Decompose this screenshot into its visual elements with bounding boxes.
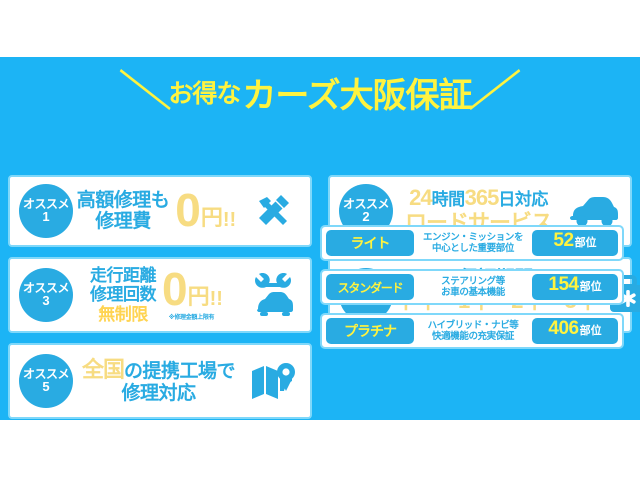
plan-desc-platinum-line-2: 快適機能の充実保証 xyxy=(417,331,529,342)
badge-number: 3 xyxy=(42,294,49,308)
card-1-text: 高額修理も 修理費 xyxy=(77,190,170,233)
recommend-badge-3: オススメ 3 xyxy=(19,268,73,322)
plan-list: ライト エンジン・ミッションを 中心とした重要部位 52 部位 スタンダード ス… xyxy=(320,225,624,349)
card-2-hours-unit: 時間 xyxy=(432,190,465,209)
badge-number: 1 xyxy=(42,210,49,224)
feature-card-5[interactable]: オススメ 5 全国の提携工場で 修理対応 xyxy=(8,343,312,419)
plan-name-platinum: プラチナ xyxy=(326,318,414,344)
card-5-text: 全国の提携工場で 修理対応 xyxy=(82,358,235,404)
plan-count-light-unit: 部位 xyxy=(575,234,597,250)
card-3-text: 走行距離 修理回数 無制限 xyxy=(90,266,156,323)
plan-desc-standard: ステアリング等 お車の基本機能 xyxy=(414,276,532,298)
card-1-price-yen: 円 xyxy=(201,200,223,232)
plan-row-standard[interactable]: スタンダード ステアリング等 お車の基本機能 154 部位 xyxy=(320,269,624,305)
plan-count-light: 52 部位 xyxy=(532,230,618,256)
plan-desc-light-line-1: エンジン・ミッションを xyxy=(417,232,529,243)
card-5-line-1: 全国の提携工場で xyxy=(82,358,235,383)
plan-desc-standard-line-2: お車の基本機能 xyxy=(417,287,529,298)
recommend-badge-5: オススメ 5 xyxy=(19,354,73,408)
card-3-body: 走行距離 修理回数 無制限 0 円 !! ※修理金額上限有 xyxy=(73,259,244,331)
plan-count-standard: 154 部位 xyxy=(532,274,618,300)
plan-desc-light-line-2: 中心とした重要部位 xyxy=(417,243,529,254)
plan-count-platinum-number: 406 xyxy=(548,318,578,340)
card-1-price: 0 円 !! xyxy=(175,190,236,231)
card-2-days-unit: 日対応 xyxy=(498,190,548,209)
plan-count-platinum: 406 部位 xyxy=(532,318,618,344)
car-side-icon xyxy=(564,194,622,228)
headline-main: カーズ大阪保証 xyxy=(242,68,471,117)
card-5-line-2: 修理対応 xyxy=(121,383,195,404)
hammer-pick-icon xyxy=(244,189,302,233)
card-2-days: 365 xyxy=(465,185,499,210)
card-3-line-1: 走行距離 xyxy=(90,266,156,285)
slash-right-decoration: ／ xyxy=(467,71,521,113)
card-3-price-yen: 円 xyxy=(188,279,210,311)
card-1-price-zero: 0 xyxy=(175,190,201,231)
plan-desc-standard-line-1: ステアリング等 xyxy=(417,276,529,287)
page-title: ＼ お得な カーズ大阪保証 ／ xyxy=(0,69,640,115)
plan-name-standard: スタンダード xyxy=(326,274,414,300)
plan-count-platinum-unit: 部位 xyxy=(580,322,602,338)
card-3-line-3: 無制限 xyxy=(98,305,148,324)
feature-card-1[interactable]: オススメ 1 高額修理も 修理費 0 円 !! xyxy=(8,175,312,247)
card-1-line-2: 修理費 xyxy=(95,211,151,232)
plan-row-platinum[interactable]: プラチナ ハイブリッド・ナビ等 快適機能の充実保証 406 部位 xyxy=(320,313,624,349)
card-3-note: ※修理金額上限有 xyxy=(169,312,214,321)
feature-card-3[interactable]: オススメ 3 走行距離 修理回数 無制限 0 円 !! xyxy=(8,257,312,333)
card-5-body: 全国の提携工場で 修理対応 xyxy=(73,345,244,417)
plan-desc-light: エンジン・ミッションを 中心とした重要部位 xyxy=(414,232,532,254)
plan-count-standard-unit: 部位 xyxy=(580,278,602,294)
headline-prefix: お得な xyxy=(168,74,240,110)
card-5-partner: の提携工場で xyxy=(124,361,235,382)
plan-name-light: ライト xyxy=(326,230,414,256)
cyan-banner-background: ＼ お得な カーズ大阪保証 ／ オススメ 1 高額修理も 修理費 0 xyxy=(0,57,640,420)
badge-number: 2 xyxy=(362,210,369,224)
card-5-nationwide: 全国 xyxy=(82,357,124,382)
slash-left-decoration: ＼ xyxy=(120,71,174,113)
card-3-price-zero: 0 xyxy=(162,269,188,310)
wrench-car-icon xyxy=(244,271,302,319)
card-3-price-block: 0 円 !! ※修理金額上限有 xyxy=(156,269,227,320)
plan-row-light[interactable]: ライト エンジン・ミッションを 中心とした重要部位 52 部位 xyxy=(320,225,624,261)
plan-desc-platinum-line-1: ハイブリッド・ナビ等 xyxy=(417,320,529,331)
card-2-line-1: 24時間365日対応 xyxy=(409,186,548,211)
card-1-body: 高額修理も 修理費 0 円 !! xyxy=(73,177,244,245)
card-1-line-1: 高額修理も xyxy=(77,190,170,211)
card-3-price: 0 円 !! xyxy=(162,269,223,310)
badge-number: 5 xyxy=(42,380,49,394)
plan-desc-platinum: ハイブリッド・ナビ等 快適機能の充実保証 xyxy=(414,320,532,342)
card-3-price-bang: !! xyxy=(210,288,223,311)
map-pin-icon xyxy=(244,361,302,401)
card-2-hours: 24 xyxy=(409,185,431,210)
plan-count-standard-number: 154 xyxy=(548,274,578,296)
card-1-price-bang: !! xyxy=(223,209,236,232)
advertisement-banner: ＼ お得な カーズ大阪保証 ／ オススメ 1 高額修理も 修理費 0 xyxy=(0,0,640,480)
card-3-line-2: 修理回数 xyxy=(90,285,156,304)
plan-count-light-number: 52 xyxy=(553,230,573,252)
recommend-badge-1: オススメ 1 xyxy=(19,184,73,238)
